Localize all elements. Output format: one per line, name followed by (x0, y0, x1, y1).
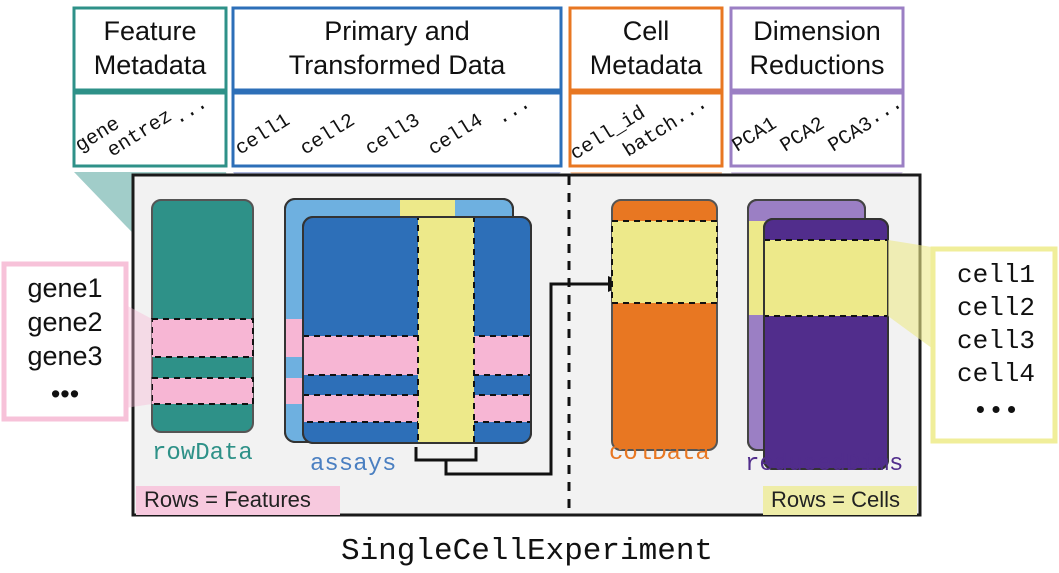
block-coldata[interactable] (612, 200, 717, 450)
svg-text:Reductions: Reductions (749, 50, 884, 80)
cell-callout-item-3: cell4 (957, 359, 1035, 389)
figure-title: SingleCellExperiment (341, 534, 713, 569)
header-dimension-reductions[interactable]: Dimension Reductions PCA1 PCA2 PCA3 ··· (729, 8, 910, 166)
block-rowdata[interactable] (152, 200, 253, 432)
assays-front-yellow-column (418, 217, 474, 443)
svg-text:Metadata: Metadata (94, 50, 208, 80)
rowdata-label: rowData (152, 440, 253, 467)
cell-callout-item-2: cell3 (957, 326, 1035, 356)
coldata-highlight-band (612, 221, 717, 303)
svg-text:Dimension: Dimension (753, 16, 881, 46)
diagram-canvas: rowData assays colData (0, 0, 1059, 573)
legend-rows-cells: Rows = Cells (763, 486, 917, 515)
svg-text:Feature: Feature (103, 16, 196, 46)
svg-text:Primary and: Primary and (324, 16, 470, 46)
header-primary-transformed-data[interactable]: Primary and Transformed Data cell1 cell2… (232, 8, 561, 166)
svg-text:Rows = Features: Rows = Features (144, 487, 311, 512)
assays-label: assays (310, 451, 396, 478)
svg-text:Rows = Cells: Rows = Cells (771, 487, 900, 512)
gene-callout-item-1: gene2 (27, 307, 102, 337)
legend-rows-features: Rows = Features (136, 486, 340, 515)
coldata-label: colData (609, 440, 710, 467)
svg-text:Transformed Data: Transformed Data (289, 50, 507, 80)
gene-callout-item-2: gene3 (27, 341, 102, 371)
reduceddims-front-yellow (764, 240, 888, 316)
header-cell-metadata[interactable]: Cell Metadata cell_id batch ··· (567, 8, 722, 166)
reduceddims-label: reducedDims (745, 451, 903, 478)
gene-callout[interactable]: gene1 gene2 gene3 ••• (4, 264, 126, 419)
gene-callout-item-3: ••• (51, 379, 79, 409)
diagram-root: rowData assays colData (0, 0, 1059, 573)
block-reduceddims[interactable] (748, 200, 888, 469)
block-assays[interactable] (285, 199, 531, 443)
svg-text:Metadata: Metadata (590, 50, 704, 80)
header-feature-metadata[interactable]: Feature Metadata gene entrez ··· (72, 8, 226, 166)
gene-callout-item-0: gene1 (27, 273, 102, 303)
svg-text:Cell: Cell (623, 16, 670, 46)
cell-callout-item-1: cell2 (957, 293, 1035, 323)
cell-callout[interactable]: cell1 cell2 cell3 cell4 ••• (933, 249, 1055, 441)
cell-callout-item-0: cell1 (957, 260, 1035, 290)
cell-callout-item-4: ••• (973, 396, 1020, 426)
